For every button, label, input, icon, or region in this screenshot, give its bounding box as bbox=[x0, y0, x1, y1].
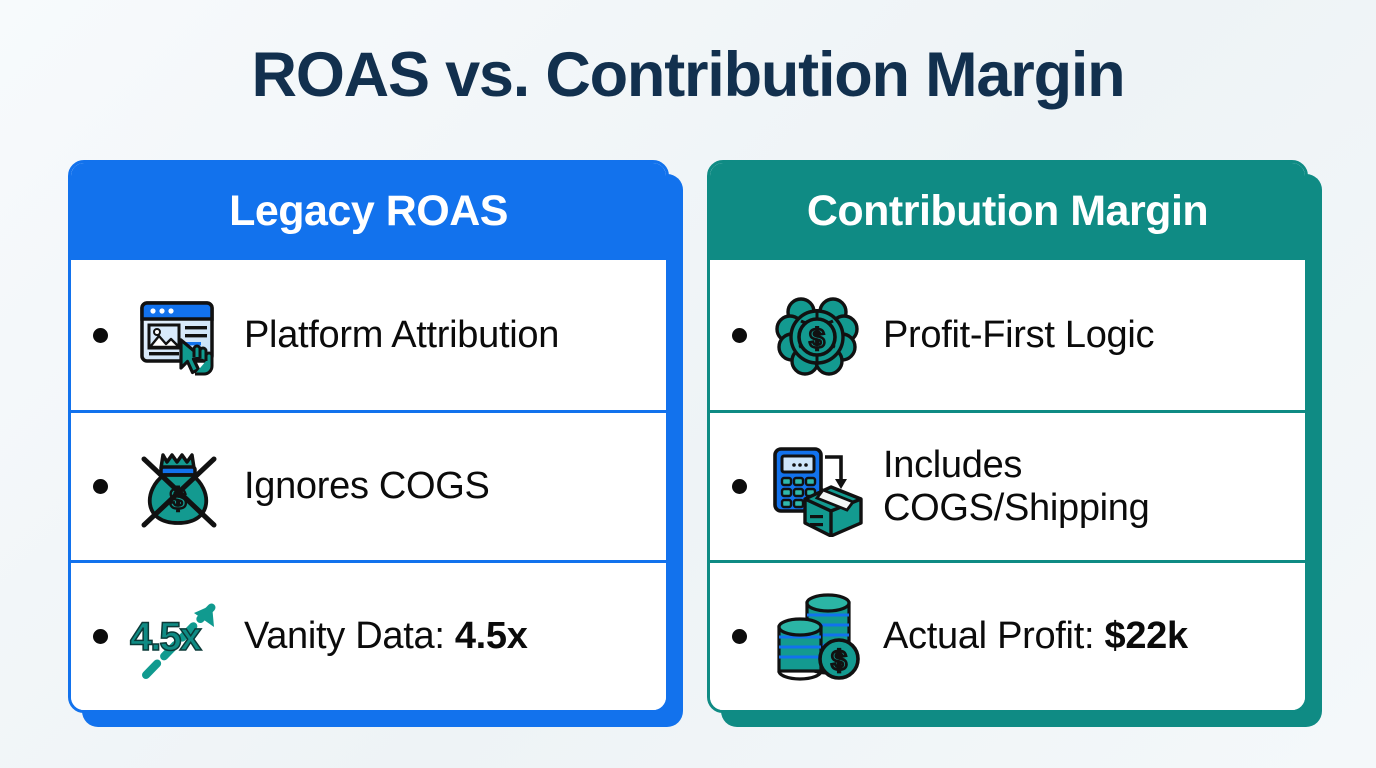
list-item-label-prefix: Vanity Data: bbox=[244, 615, 455, 657]
page-title: ROAS vs. Contribution Margin bbox=[0, 0, 1376, 107]
list-item-label: Platform Attribution bbox=[244, 314, 559, 357]
browser-image-cursor-icon bbox=[126, 281, 230, 389]
list-item: 4.5x Vanity Data: 4.5x bbox=[71, 560, 666, 710]
bullet-marker bbox=[93, 328, 108, 343]
bullet-marker bbox=[93, 629, 108, 644]
list-item: $ Profit-First Logic bbox=[710, 260, 1305, 410]
list-item: Platform Attribution bbox=[71, 260, 666, 410]
list-item-label: Ignores COGS bbox=[244, 465, 490, 508]
card-contribution-margin: Contribution Margin bbox=[707, 160, 1308, 713]
list-item: Includes COGS/Shipping bbox=[710, 410, 1305, 560]
list-item-label: Actual Profit: $22k bbox=[883, 615, 1188, 658]
svg-text:$: $ bbox=[831, 645, 847, 676]
list-item-value: $22k bbox=[1104, 615, 1187, 657]
list-item-label: Vanity Data: 4.5x bbox=[244, 615, 528, 658]
list-item-label: Includes COGS/Shipping bbox=[883, 444, 1213, 529]
bullet-marker bbox=[732, 328, 747, 343]
card-header-legacy-roas: Legacy ROAS bbox=[71, 163, 666, 260]
svg-text:$: $ bbox=[809, 323, 825, 354]
brain-dollar-icon: $ bbox=[765, 281, 869, 389]
multiplier-growth-arrow-icon: 4.5x bbox=[126, 583, 230, 691]
cards-container: Legacy ROAS bbox=[68, 160, 1308, 713]
row-list-legacy-roas: Platform Attribution $ bbox=[71, 260, 666, 710]
list-item-value: 4.5x bbox=[455, 615, 528, 657]
list-item-label: Profit-First Logic bbox=[883, 314, 1154, 357]
comparison-infographic: ROAS vs. Contribution Margin Legacy ROAS bbox=[0, 0, 1376, 768]
multiplier-icon-label: 4.5x bbox=[130, 615, 200, 660]
row-list-contribution-margin: $ Profit-First Logic bbox=[710, 260, 1305, 710]
calculator-box-arrow-icon bbox=[765, 433, 869, 541]
bullet-marker bbox=[93, 479, 108, 494]
list-item: $ Actual Profit: $22k bbox=[710, 560, 1305, 710]
bullet-marker bbox=[732, 479, 747, 494]
money-bag-crossed-out-icon: $ bbox=[126, 433, 230, 541]
bullet-marker bbox=[732, 629, 747, 644]
list-item: $ Ignores COGS bbox=[71, 410, 666, 560]
card-legacy-roas: Legacy ROAS bbox=[68, 160, 669, 713]
card-header-contribution-margin: Contribution Margin bbox=[710, 163, 1305, 260]
list-item-label-prefix: Actual Profit: bbox=[883, 615, 1104, 657]
coin-stacks-dollar-icon: $ bbox=[765, 583, 869, 691]
